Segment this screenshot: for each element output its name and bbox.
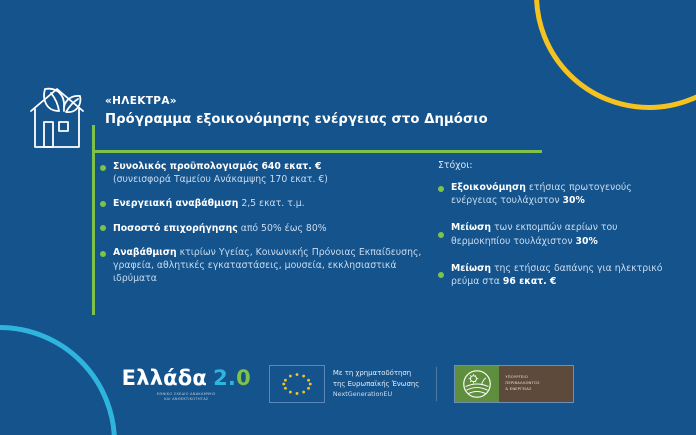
greece-logo-subtitle: ΕΘΝΙΚΟ ΣΧΕΔΙΟ ΑΝΑΚΑΜΨΗΣ ΚΑΙ ΑΝΘΕΚΤΙΚΟΤΗΤ… [157, 392, 216, 403]
greece-logo-word: Ελλάδα [122, 366, 207, 390]
footer-logos: Ελλάδα 2.0 ΕΘΝΙΚΟ ΣΧΕΔΙΟ ΑΝΑΚΑΜΨΗΣ ΚΑΙ Α… [0, 365, 696, 403]
footer-divider [436, 367, 437, 401]
bullet-strong: Ποσοστό επιχορήγησης [113, 223, 238, 234]
bullet-dot-icon [438, 232, 444, 238]
eu-funding-text: Με τη χρηματοδότηση της Ευρωπαϊκής Ένωση… [333, 368, 419, 399]
bullet-subline: (συνεισφορά Ταμείου Ανάκαμψης 170 εκατ. … [113, 174, 328, 185]
bullet-strong: Αναβάθμιση [113, 247, 177, 258]
divider-horizontal [92, 150, 542, 153]
ministry-logo: ΥΠΟΥΡΓΕΙΟ ΠΕΡΙΒΑΛΛΟΝΤΟΣ & ΕΝΕΡΓΕΙΑΣ [454, 365, 574, 403]
eu-line-2: της Ευρωπαϊκής Ένωσης [333, 379, 419, 390]
list-item: Εξοικονόμηση ετήσιας πρωτογενούς ενέργει… [438, 181, 676, 207]
bullet-text: Μείωση της ετήσιας δαπάνης για ηλεκτρικό… [451, 262, 676, 288]
bullet-strong: Συνολικός προϋπολογισμός 640 εκατ. € [113, 161, 321, 172]
bullet-dot-icon [438, 186, 444, 192]
right-column: Στόχοι: Εξοικονόμηση ετήσιας πρωτογενούς… [430, 160, 676, 302]
bullet-strong-end: 30% [563, 195, 585, 206]
bullet-text: Ενεργειακή αναβάθμιση 2,5 εκατ. τ.μ. [113, 197, 305, 210]
list-item: Ποσοστό επιχορήγησης από 50% έως 80% [100, 222, 430, 235]
eu-line-3: NextGenerationEU [333, 390, 419, 400]
bullet-dot-icon [100, 225, 106, 231]
bullet-text: Συνολικός προϋπολογισμός 640 εκατ. € (συ… [113, 160, 328, 186]
decorative-arc-yellow [534, 0, 696, 110]
bullet-dot-icon [100, 251, 106, 257]
content-area: Συνολικός προϋπολογισμός 640 εκατ. € (συ… [100, 160, 676, 302]
bullet-rest: από 50% έως 80% [238, 223, 327, 234]
ministry-name: ΥΠΟΥΡΓΕΙΟ ΠΕΡΙΒΑΛΛΟΝΤΟΣ & ΕΝΕΡΓΕΙΑΣ [499, 366, 573, 402]
bullet-text: Αναβάθμιση κτιρίων Υγείας, Κοινωνικής Πρ… [113, 246, 430, 286]
bullet-dot-icon [100, 165, 106, 171]
ministry-line-3: & ΕΝΕΡΓΕΙΑΣ [505, 387, 539, 393]
page-title: Πρόγραμμα εξοικονόμησης ενέργειας στο Δη… [105, 112, 488, 127]
bullet-rest: 2,5 εκατ. τ.μ. [238, 198, 304, 209]
goals-label: Στόχοι: [438, 160, 676, 171]
list-item: Μείωση των εκπομπών αερίων του θερμοκηπί… [438, 221, 676, 247]
bullet-strong-end: 96 εκατ. € [503, 276, 557, 287]
bullet-text: Μείωση των εκπομπών αερίων του θερμοκηπί… [451, 221, 676, 247]
greece-logo-number: 2.0 [213, 366, 251, 390]
program-kicker: «ΗΛΕΚΤΡΑ» [105, 95, 488, 108]
slide-canvas: «ΗΛΕΚΤΡΑ» Πρόγραμμα εξοικονόμησης ενέργε… [0, 0, 696, 435]
bullet-strong: Μείωση [451, 222, 491, 233]
header: «ΗΛΕΚΤΡΑ» Πρόγραμμα εξοικονόμησης ενέργε… [26, 78, 488, 152]
eco-house-icon [26, 78, 92, 152]
bullet-text: Εξοικονόμηση ετήσιας πρωτογενούς ενέργει… [451, 181, 676, 207]
bullet-strong: Εξοικονόμηση [451, 182, 526, 193]
eu-line-1: Με τη χρηματοδότηση [333, 368, 419, 379]
bullet-strong: Μείωση [451, 263, 491, 274]
left-column: Συνολικός προϋπολογισμός 640 εκατ. € (συ… [100, 160, 430, 302]
list-item: Μείωση της ετήσιας δαπάνης για ηλεκτρικό… [438, 262, 676, 288]
divider-vertical [92, 125, 95, 315]
list-item: Συνολικός προϋπολογισμός 640 εκατ. € (συ… [100, 160, 430, 186]
bullet-strong: Ενεργειακή αναβάθμιση [113, 198, 238, 209]
ministry-emblem-icon [455, 366, 499, 402]
list-item: Ενεργειακή αναβάθμιση 2,5 εκατ. τ.μ. [100, 197, 430, 210]
list-item: Αναβάθμιση κτιρίων Υγείας, Κοινωνικής Πρ… [100, 246, 430, 286]
greece-2-0-logo: Ελλάδα 2.0 ΕΘΝΙΚΟ ΣΧΕΔΙΟ ΑΝΑΚΑΜΨΗΣ ΚΑΙ Α… [122, 366, 251, 403]
bullet-dot-icon [438, 272, 444, 278]
eu-flag-icon [269, 365, 325, 403]
eu-funding-logo: Με τη χρηματοδότηση της Ευρωπαϊκής Ένωση… [269, 365, 419, 403]
bullet-dot-icon [100, 201, 106, 207]
bullet-strong-end: 30% [576, 236, 598, 247]
bullet-text: Ποσοστό επιχορήγησης από 50% έως 80% [113, 222, 327, 235]
